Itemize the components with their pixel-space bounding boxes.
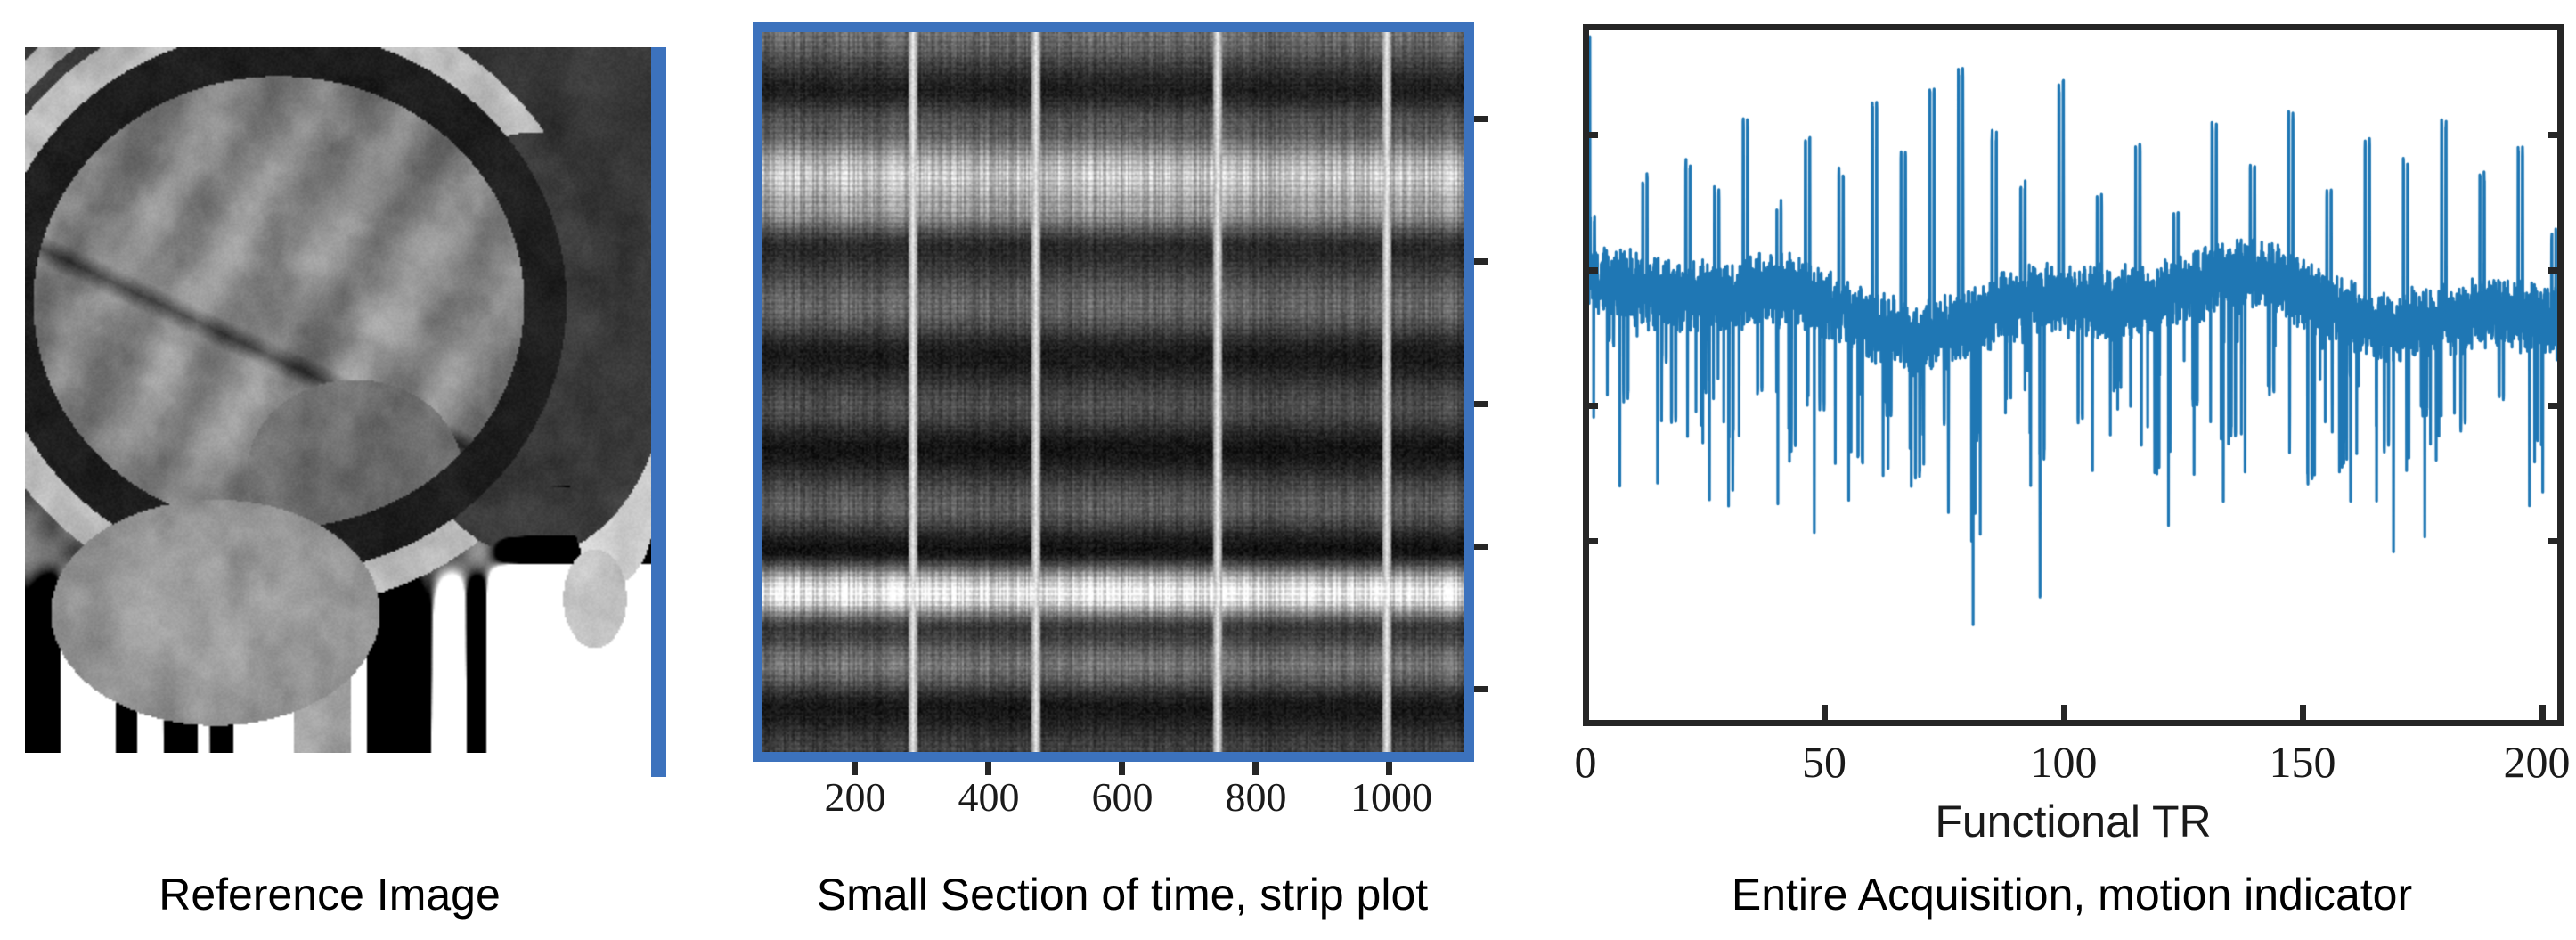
motion-xticklabel-200: 200 bbox=[2457, 736, 2576, 788]
strip-ytick-1 bbox=[1474, 116, 1488, 122]
motion-ytick-left-4 bbox=[1583, 538, 1598, 544]
caption-motion-indicator: Entire Acquisition, motion indicator bbox=[1568, 869, 2576, 920]
strip-ytick-5 bbox=[1474, 686, 1488, 692]
reference-image-panel bbox=[25, 47, 657, 753]
motion-ytick-left-3 bbox=[1583, 403, 1598, 409]
strip-xticklabel-1000: 1000 bbox=[1320, 773, 1463, 821]
motion-xticklabel-150: 150 bbox=[2222, 736, 2383, 788]
motion-xticklabel-50: 50 bbox=[1744, 736, 1904, 788]
strip-xticklabel-200: 200 bbox=[784, 773, 926, 821]
motion-axis-right-spine bbox=[2557, 24, 2564, 726]
motion-xtick-100 bbox=[2061, 705, 2067, 720]
figure-root: 200 400 600 800 1000 0 50 100 150 200 Fu… bbox=[0, 0, 2576, 940]
strip-plot-panel bbox=[753, 22, 1474, 762]
motion-indicator-line-trace bbox=[1583, 24, 2564, 726]
strip-xticklabel-400: 400 bbox=[917, 773, 1060, 821]
strip-xticklabel-600: 600 bbox=[1051, 773, 1194, 821]
strip-plot-heatmap bbox=[762, 32, 1464, 752]
time-section-marker bbox=[651, 47, 666, 777]
motion-indicator-panel bbox=[1583, 24, 2564, 726]
motion-ytick-right-1 bbox=[2548, 132, 2564, 138]
caption-reference-image: Reference Image bbox=[0, 869, 659, 920]
motion-xaxis-title: Functional TR bbox=[1583, 796, 2564, 847]
motion-ytick-right-3 bbox=[2548, 403, 2564, 409]
strip-ytick-2 bbox=[1474, 258, 1488, 265]
motion-axis-bottom-spine bbox=[1583, 720, 2564, 726]
motion-axis-top-spine bbox=[1583, 24, 2564, 30]
motion-xtick-0 bbox=[1583, 705, 1589, 720]
motion-ytick-left-2 bbox=[1583, 267, 1598, 274]
motion-ytick-right-2 bbox=[2548, 267, 2564, 274]
motion-ytick-right-4 bbox=[2548, 538, 2564, 544]
strip-ytick-4 bbox=[1474, 544, 1488, 550]
sagittal-brain-mri-image bbox=[25, 47, 657, 753]
motion-axis-left-spine bbox=[1583, 24, 1589, 726]
motion-xtick-50 bbox=[1822, 705, 1828, 720]
caption-strip-plot: Small Section of time, strip plot bbox=[695, 869, 1550, 920]
strip-xticklabel-800: 800 bbox=[1185, 773, 1327, 821]
motion-xtick-150 bbox=[2300, 705, 2306, 720]
motion-xtick-200 bbox=[2539, 705, 2546, 720]
motion-xticklabel-100: 100 bbox=[1984, 736, 2144, 788]
strip-ytick-3 bbox=[1474, 401, 1488, 407]
motion-ytick-left-1 bbox=[1583, 132, 1598, 138]
motion-xticklabel-0: 0 bbox=[1505, 736, 1666, 788]
